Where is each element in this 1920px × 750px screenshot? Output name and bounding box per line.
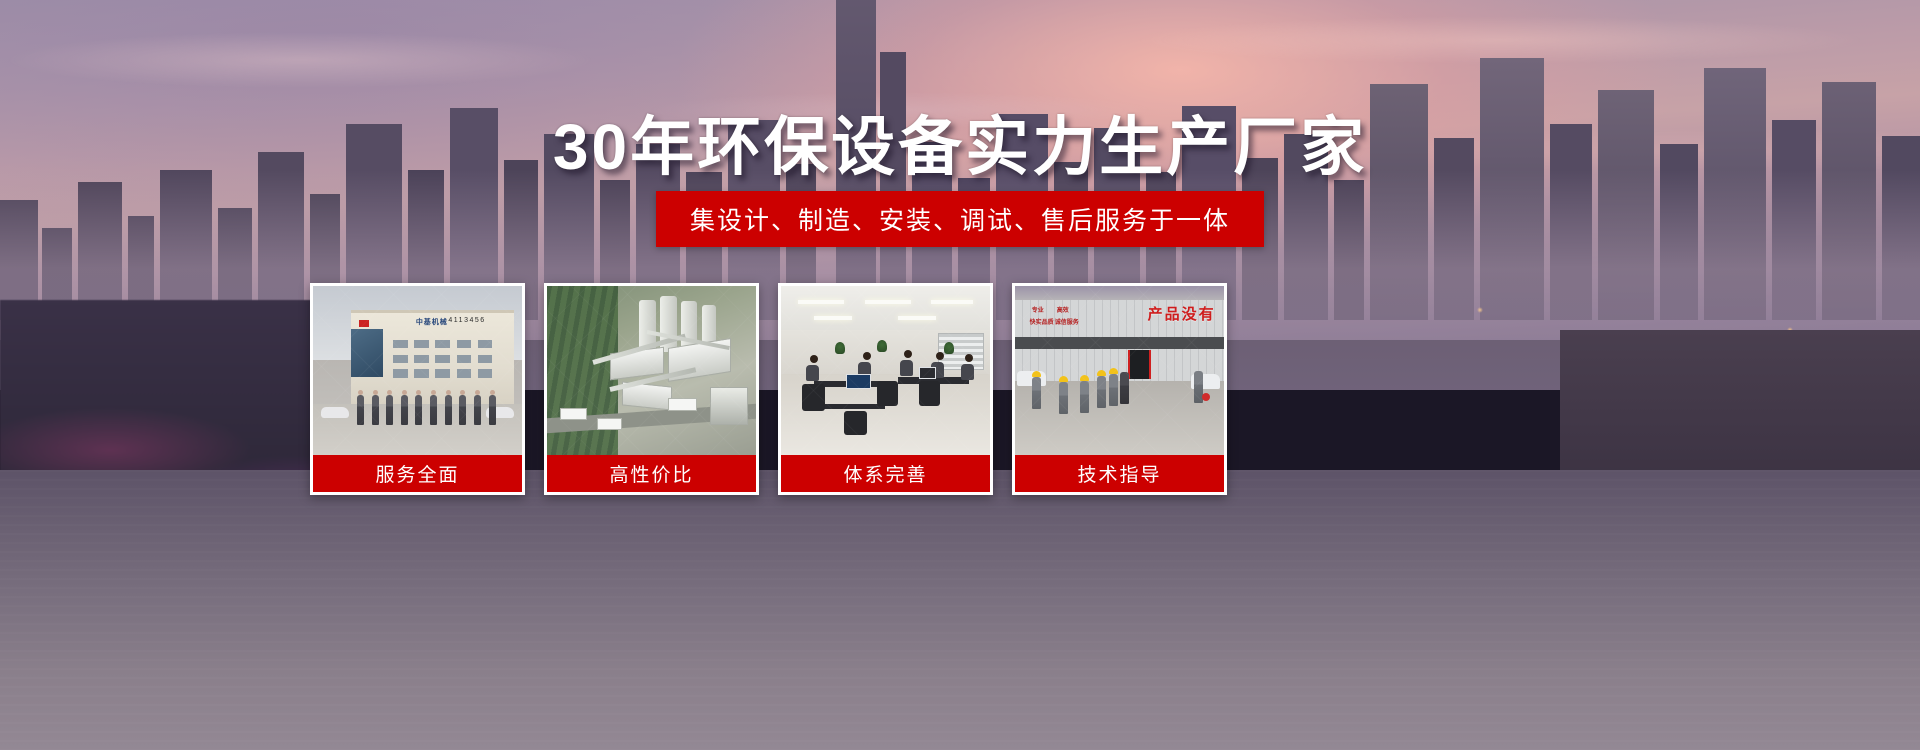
banner-subtitle-bar: 集设计、制造、安装、调试、售后服务于一体 bbox=[656, 191, 1264, 247]
photo-wall-small-4: 诚信服务 bbox=[1055, 320, 1079, 328]
feature-card[interactable]: 产品没有 专业 快实品质 高效 诚信服务 bbox=[1012, 283, 1227, 495]
card-caption: 高性价比 bbox=[547, 455, 756, 492]
hero-banner: 30年环保设备实力生产厂家 集设计、制造、安装、调试、售后服务于一体 中基机械 … bbox=[0, 0, 1920, 750]
banner-headline: 30年环保设备实力生产厂家 bbox=[0, 96, 1920, 188]
feature-card[interactable]: 中基机械 4113456 bbox=[310, 283, 525, 495]
card-caption: 技术指导 bbox=[1015, 455, 1224, 492]
card-photo-office-building: 中基机械 4113456 bbox=[313, 286, 522, 455]
card-photo-office-interior bbox=[781, 286, 990, 455]
card-photo-factory-workers: 产品没有 专业 快实品质 高效 诚信服务 bbox=[1015, 286, 1224, 455]
water-reflection bbox=[0, 470, 1920, 750]
photo-wall-small-2: 快实品质 bbox=[1030, 320, 1054, 328]
card-caption: 服务全面 bbox=[313, 455, 522, 492]
photo-wall-small-3: 高效 bbox=[1057, 308, 1069, 316]
photo-wall-small-1: 专业 bbox=[1032, 308, 1044, 316]
feature-card-list: 中基机械 4113456 bbox=[310, 283, 1560, 495]
card-caption: 体系完善 bbox=[781, 455, 990, 492]
feature-card[interactable]: 高性价比 bbox=[544, 283, 759, 495]
photo-wall-slogan: 产品没有 bbox=[1148, 303, 1216, 324]
photo-phone-number: 4113456 bbox=[448, 317, 485, 324]
feature-card[interactable]: 体系完善 bbox=[778, 283, 993, 495]
card-photo-aerial-plant bbox=[547, 286, 756, 455]
photo-company-sign: 中基机械 bbox=[416, 317, 448, 327]
